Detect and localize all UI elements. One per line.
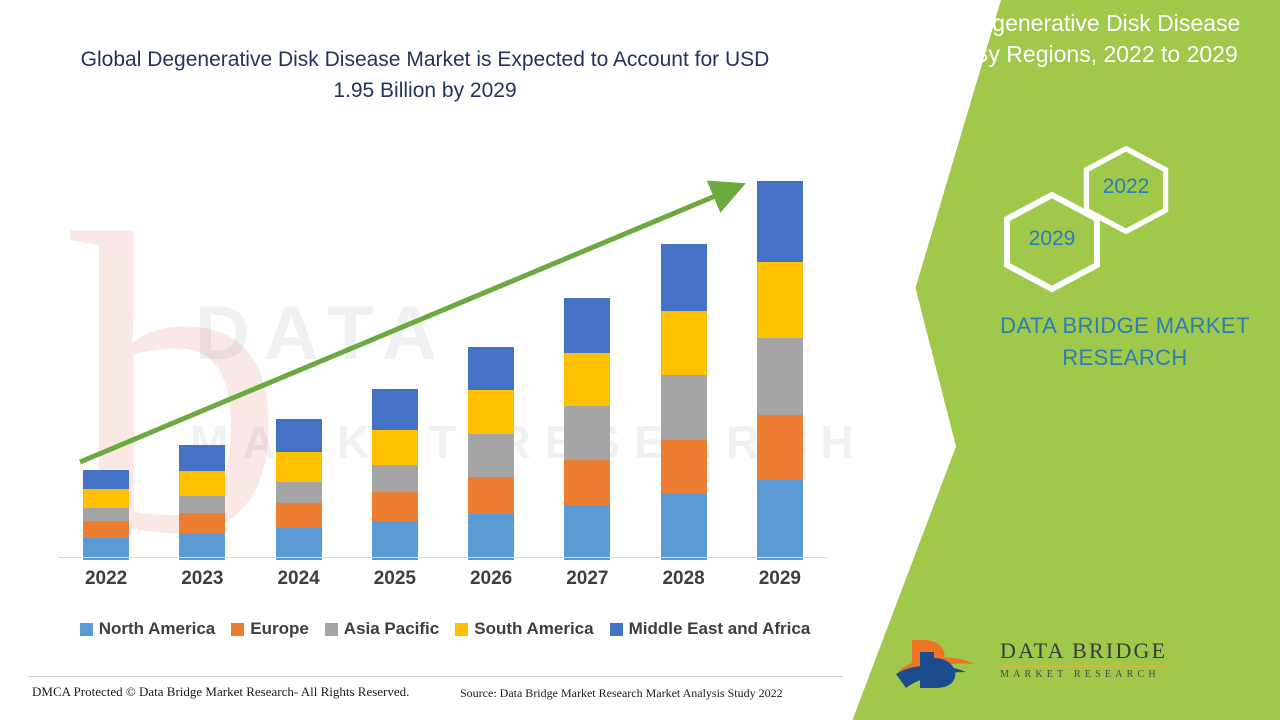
legend-label: Middle East and Africa [629, 619, 811, 639]
legend-swatch-icon [610, 623, 623, 636]
hexagon-badge-near: 2029 [1002, 192, 1102, 286]
legend-swatch-icon [325, 623, 338, 636]
page-title: Global Degenerative Disk Disease Market … [80, 44, 770, 106]
x-axis-labels: 20222023202420252026202720282029 [58, 568, 828, 596]
x-label-2024: 2024 [251, 568, 347, 590]
footer-divider [28, 676, 843, 677]
x-label-2022: 2022 [58, 568, 154, 590]
x-label-2028: 2028 [636, 568, 732, 590]
stacked-bar-chart [58, 170, 828, 560]
legend-swatch-icon [231, 623, 244, 636]
legend-label: South America [474, 619, 593, 639]
data-bridge-logo-text: DATA BRIDGE MARKET RESEARCH [1000, 638, 1167, 680]
source-text: Source: Data Bridge Market Research Mark… [460, 686, 783, 701]
copyright-text: DMCA Protected © Data Bridge Market Rese… [32, 684, 409, 700]
brand-name: DATA BRIDGE MARKET RESEARCH [960, 310, 1280, 374]
x-axis-line [58, 557, 828, 558]
x-label-2027: 2027 [539, 568, 635, 590]
legend-label: North America [99, 619, 216, 639]
hexagon-far-label: 2022 [1103, 175, 1150, 199]
x-label-2025: 2025 [347, 568, 443, 590]
x-label-2026: 2026 [443, 568, 539, 590]
legend-item-south-america[interactable]: South America [455, 619, 593, 639]
legend-label: Asia Pacific [344, 619, 439, 639]
infographic-root: b DATA MARKET RESEARCH Global Degenerati… [0, 0, 1280, 720]
legend-item-middle-east-and-africa[interactable]: Middle East and Africa [610, 619, 811, 639]
x-label-2023: 2023 [154, 568, 250, 590]
chart-legend: North AmericaEuropeAsia PacificSouth Ame… [60, 616, 830, 642]
legend-label: Europe [250, 619, 309, 639]
logo-rule [1000, 666, 1167, 667]
legend-item-asia-pacific[interactable]: Asia Pacific [325, 619, 439, 639]
legend-swatch-icon [455, 623, 468, 636]
legend-swatch-icon [80, 623, 93, 636]
x-label-2029: 2029 [732, 568, 828, 590]
panel-title: Global Degenerative Disk Disease Market,… [890, 8, 1260, 70]
logo-line-1: DATA BRIDGE [1000, 638, 1167, 664]
hexagon-near-label: 2029 [1029, 227, 1076, 251]
growth-arrow-icon [58, 170, 828, 560]
legend-item-europe[interactable]: Europe [231, 619, 309, 639]
legend-item-north-america[interactable]: North America [80, 619, 216, 639]
logo-line-2: MARKET RESEARCH [1000, 669, 1167, 680]
